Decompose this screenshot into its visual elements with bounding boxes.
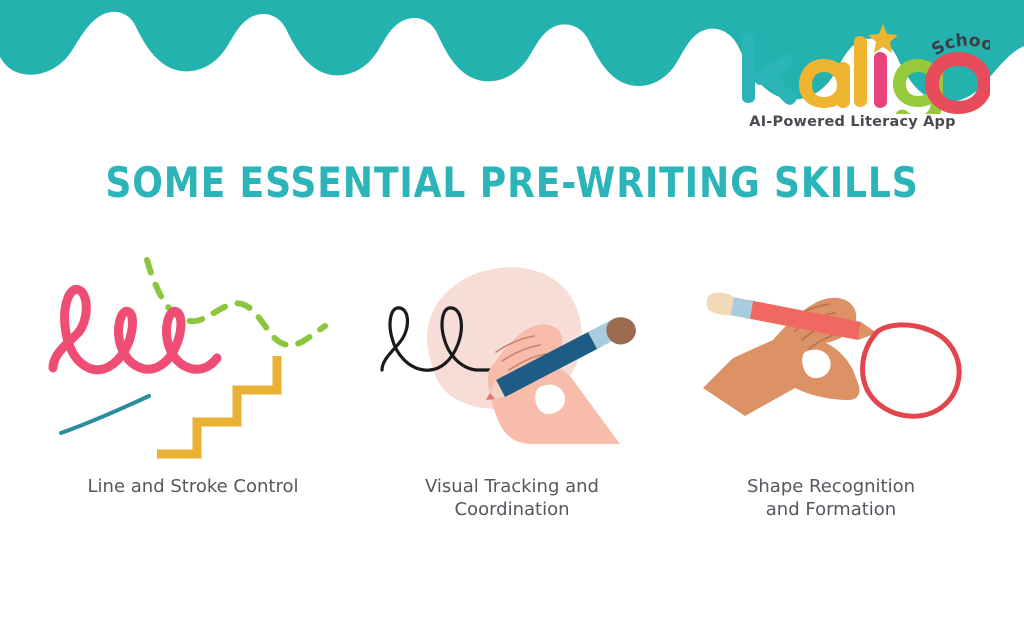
logo-letter-l — [854, 36, 867, 107]
page-title: SOME ESSENTIAL PRE-WRITING SKILLS — [72, 158, 953, 207]
skill-card-shape-recognition-and-formation: Shape Recognition and Formation — [676, 248, 986, 558]
caption-line: Visual Tracking and Coordination — [425, 476, 599, 520]
skill-card-caption: Line and Stroke Control — [48, 475, 338, 498]
skills-card-row: Line and Stroke Control — [0, 248, 1024, 558]
logo-star-icon — [868, 24, 898, 53]
logo-tagline: AI-Powered Literacy App — [730, 114, 975, 130]
drawn-circle — [863, 325, 960, 416]
green-dashed-wave — [147, 260, 325, 345]
pencil-eraser — [606, 317, 635, 344]
logo-letter-a — [799, 59, 850, 108]
teal-diagonal-line — [61, 396, 149, 433]
pink-cursive-loops — [53, 289, 217, 369]
yellow-staircase — [157, 356, 277, 454]
logo-letter-k — [742, 33, 796, 105]
skill-card-line-and-stroke-control: Line and Stroke Control — [38, 248, 348, 558]
visual-tracking-illustration — [362, 248, 662, 463]
kaligo-wordmark: School — [730, 22, 990, 114]
skill-card-caption: Visual Tracking and Coordination — [367, 475, 657, 521]
logo-letter-i — [874, 52, 887, 108]
skill-card-visual-tracking-and-coordination: Visual Tracking and Coordination — [357, 248, 667, 558]
kaligo-logo[interactable]: School AI-Powered Literacy App — [730, 22, 990, 140]
line-and-stroke-control-illustration — [43, 248, 343, 463]
skill-card-caption: Shape Recognition and Formation — [686, 475, 976, 521]
caption-line: Shape Recognition — [686, 475, 976, 498]
infographic-page: School AI-Powered Literacy App SOME ESSE… — [0, 0, 1024, 640]
shape-recognition-illustration — [681, 248, 981, 463]
pencil-eraser — [707, 293, 734, 316]
caption-line: Line and Stroke Control — [88, 476, 299, 497]
caption-line: and Formation — [686, 498, 976, 521]
logo-letter-o — [925, 52, 990, 114]
